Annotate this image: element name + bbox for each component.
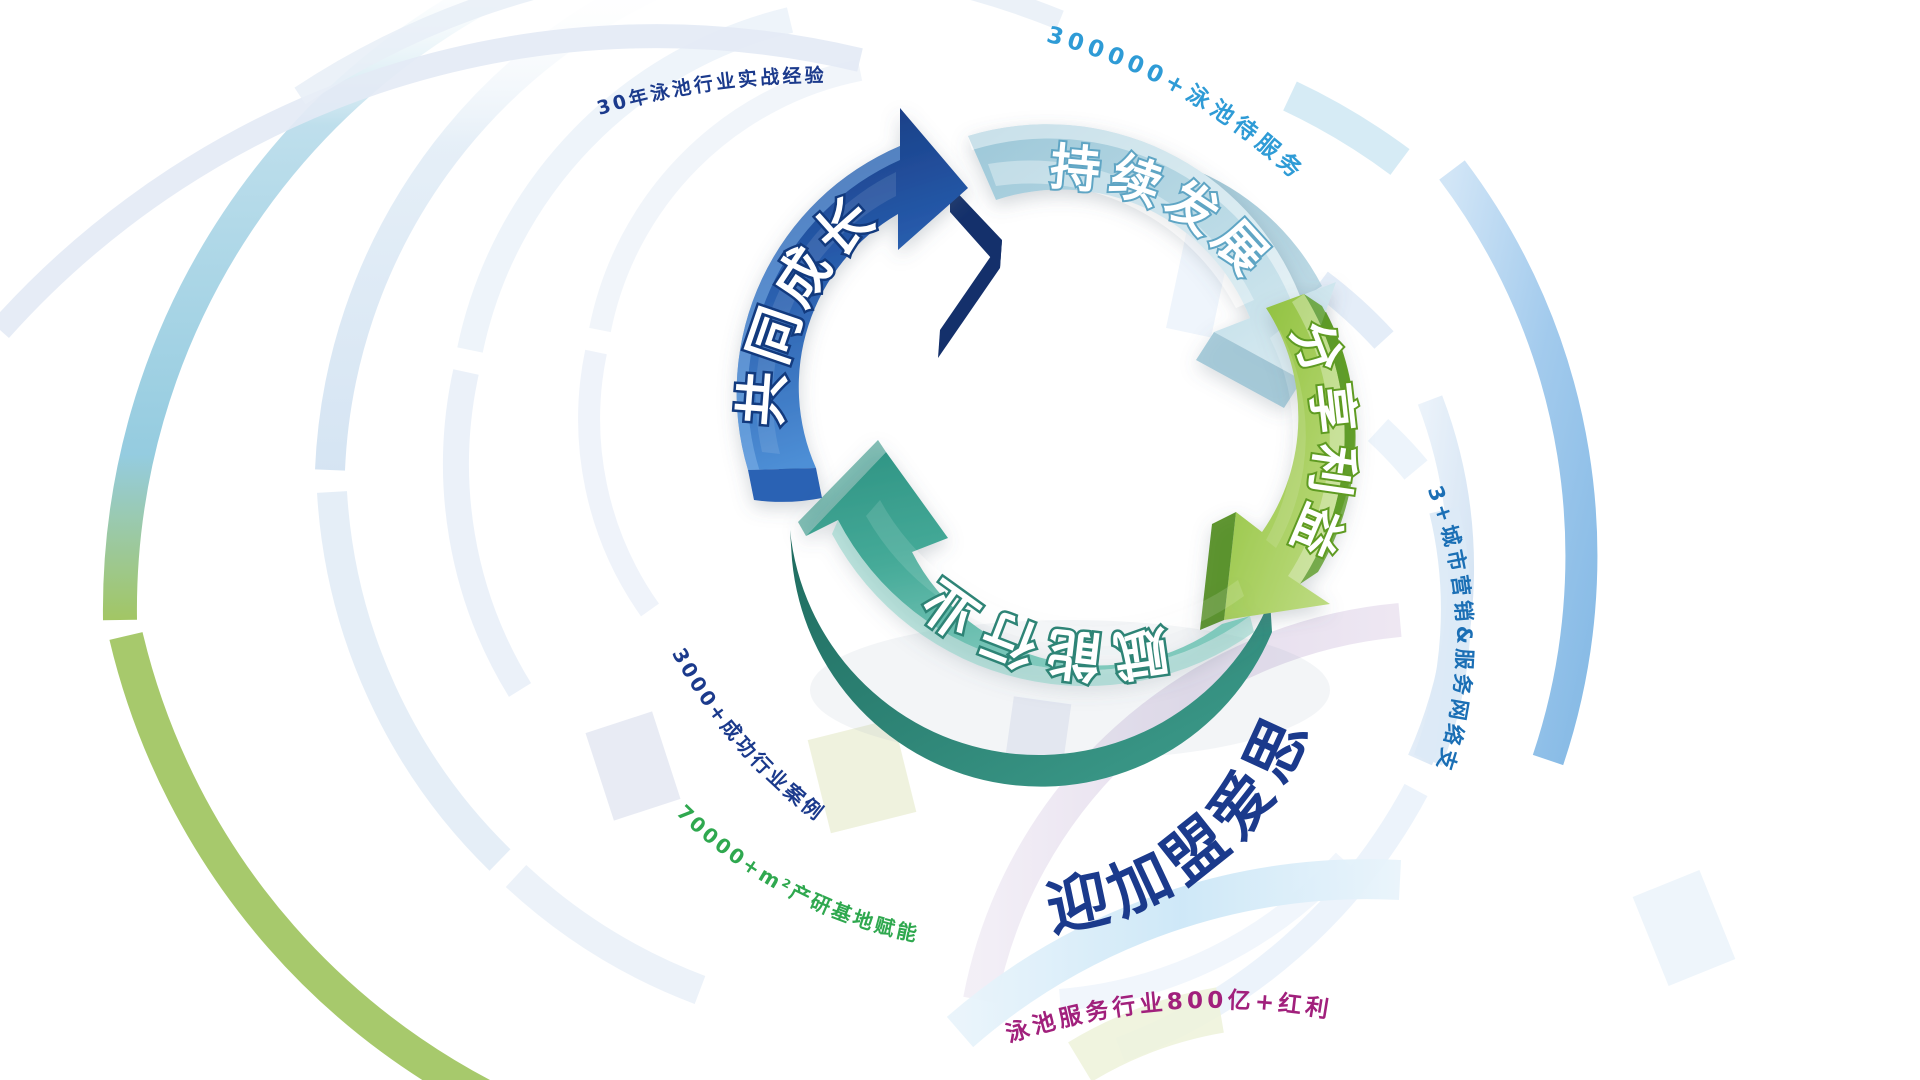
annotation-layer: 30年泳池行业实战经验 300000+泳池待服务 53+城市营销&服务网络支持 … [0,0,1920,1080]
annotation-dividend: 泳池服务行业800亿+红利 [1003,988,1334,1048]
annotation-experience: 30年泳池行业实战经验 [594,64,826,120]
annotation-base: 70000+m²产研基地赋能 [672,800,922,947]
annotation-cases: 3000+成功行业案例 [667,644,829,827]
annotation-cities: 53+城市营销&服务网络支持 [0,0,1476,776]
headline-join: 欢迎加盟爱思必 [0,0,1326,946]
infographic-canvas: 共同成长 持续发展 分享利益 赋能行业 30年泳池行业实战经验 [0,0,1920,1080]
annotation-pools: 300000+泳池待服务 [1044,22,1310,186]
